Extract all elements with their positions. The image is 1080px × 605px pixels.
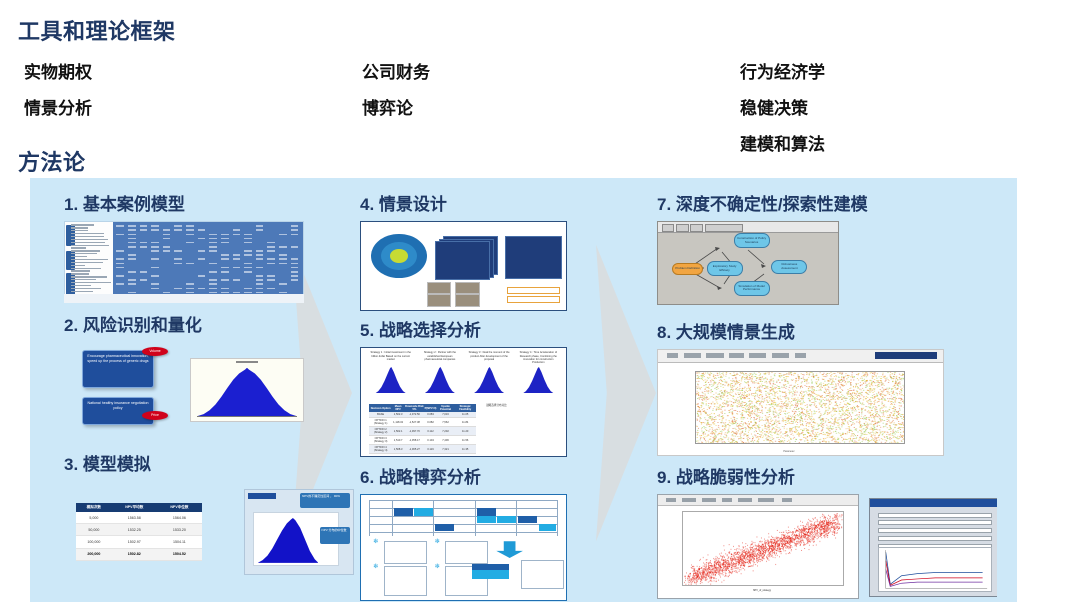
scenario-wheel-icon: [371, 234, 426, 278]
card-4-title: 4. 情景设计: [360, 190, 575, 215]
card-9-title: 9. 战略脆弱性分析: [657, 463, 1007, 488]
x-axis-label: NPV_of_strategy: [682, 589, 842, 592]
node-policy-scenarios: Construction of Policy Scenarios: [734, 233, 770, 248]
table-header-row: 模拟次数 NPV平均数 NPV中位数: [76, 503, 202, 512]
red-scatter-plot: [682, 511, 844, 585]
card-1-title: 1. 基本案例模型: [64, 190, 314, 215]
card-8-thumbnail: Parameter: [657, 349, 944, 456]
strategy-caption-1: Strategy 1 : Initial investment in the b…: [369, 351, 412, 361]
card-3-thumbnail: 模拟次数 NPV平均数 NPV中位数 5,0001563.581564.06 5…: [64, 481, 354, 577]
npv-distribution-chart: [190, 358, 304, 422]
tool-keyword-modeling-algorithms: 建模和算法: [740, 130, 825, 155]
card-8-title: 8. 大规模情景生成: [657, 318, 977, 343]
table-row: OPTION 3 (Strategy 3)1,510.7-1,058.170.1…: [369, 436, 476, 445]
payoff-matrix: [369, 500, 558, 536]
sim-note-median: NPV 分布的中位数: [320, 527, 350, 544]
card-7-title: 7. 深度不确定性/探索性建模: [657, 190, 977, 215]
oval-volume: Volume: [142, 347, 168, 356]
table-row: OPTION 2 (Strategy 2)1,502.1-1,097.700.1…: [369, 427, 476, 436]
strategy-comparison-table: Decision Option Mean NPV Downside Risk 5…: [369, 404, 476, 454]
table-row: 5,0001563.581564.06: [76, 512, 202, 524]
card-9[interactable]: 9. 战略脆弱性分析 NPV_of_strategy: [657, 463, 1007, 599]
menu-bar[interactable]: [658, 495, 858, 506]
col-npv-median: NPV中位数: [157, 503, 202, 512]
card-6-title: 6. 战略博弈分析: [360, 463, 575, 488]
driver-box-innovation: Encourage pharmaceutical innovation, spe…: [82, 350, 154, 388]
card-3[interactable]: 3. 模型模拟 模拟次数 NPV平均数 NPV中位数 5,0001563.581…: [64, 450, 354, 577]
card-4[interactable]: 4. 情景设计: [360, 190, 575, 311]
star-icon-3: ✻: [373, 564, 378, 570]
table-row: 50,0001532.251533.20: [76, 524, 202, 536]
card-3-title: 3. 模型模拟: [64, 450, 354, 475]
card-1-thumbnail: [64, 221, 304, 303]
card-9-thumbnail: NPV_of_strategy: [657, 494, 997, 599]
driver-box-insurance: National healthy insurance negotiation p…: [82, 397, 154, 425]
node-problem-definition: Problem Definition: [672, 263, 703, 275]
col-npv-mean: NPV平均数: [112, 503, 157, 512]
dialog-title-bar: [870, 499, 997, 507]
tool-keyword-behavioral-economics: 行为经济学: [740, 58, 825, 83]
card-7[interactable]: 7. 深度不确定性/探索性建模: [657, 190, 977, 305]
table-header-row: Decision Option Mean NPV Downside Risk 5…: [369, 404, 476, 412]
x-axis-label: Parameter: [783, 450, 794, 453]
node-robustness-assessment: Robustness Assessment: [771, 260, 807, 275]
methodology-section-title: 方法论: [18, 145, 86, 177]
card-5[interactable]: 5. 战略选择分析 Strategy 1 : Initial investmen…: [360, 316, 575, 457]
down-arrow-icon: [496, 541, 523, 558]
simulation-results-table: 模拟次数 NPV平均数 NPV中位数 5,0001563.581564.06 5…: [76, 503, 202, 561]
card-1[interactable]: 1. 基本案例模型: [64, 190, 314, 303]
settings-dialog[interactable]: [869, 498, 997, 597]
menu-bar[interactable]: [658, 350, 943, 363]
card-2-thumbnail: Encourage pharmaceutical innovation, spe…: [64, 342, 314, 437]
star-icon-4: ✻: [435, 564, 440, 570]
card-7-thumbnail: Problem Definition Exploratory Study Eff…: [657, 221, 839, 305]
table-row: 100,0001502.971504.11: [76, 536, 202, 548]
tools-section-title: 工具和理论框架: [18, 14, 176, 46]
tool-keyword-robust-decision: 稳健决策: [740, 94, 808, 119]
card-6[interactable]: 6. 战略博弈分析: [360, 463, 575, 601]
scenario-scatter-plot: [695, 371, 905, 444]
flow-arrow-2-icon: [596, 198, 656, 588]
dialog-line-chart: [878, 547, 993, 592]
card-5-title: 5. 战略选择分析: [360, 316, 575, 341]
card-2-title: 2. 风险识别和量化: [64, 311, 324, 336]
table-row: 200,0001502.821504.52: [76, 548, 202, 560]
node-model-simulation: Simulation of Model Performance: [734, 281, 770, 296]
col-sim-count: 模拟次数: [76, 503, 112, 512]
tool-keyword-real-options: 实物期权: [24, 58, 92, 83]
strategy-commentary: 战略选择分布对比: [486, 404, 560, 408]
star-icon-1: ✻: [373, 539, 378, 545]
table-row: OPTION 1 (Strategy 1)1,118.32-1,527.380.…: [369, 418, 476, 427]
sim-note-uncertainty: NPV的不确定性区间 ， 90%: [300, 493, 350, 508]
tool-keyword-game-theory: 博弈论: [362, 94, 413, 119]
oval-price: Price: [142, 411, 168, 420]
card-6-thumbnail: ✻ ✻ ✻ ✻: [360, 494, 567, 601]
methodology-panel: 1. 基本案例模型 2. 风险识别和量化 Encourage pharmaceu…: [30, 178, 1017, 602]
card-5-thumbnail: Strategy 1 : Initial investment in the b…: [360, 347, 567, 457]
card-8[interactable]: 8. 大规模情景生成 Parameter: [657, 318, 977, 456]
strategy-caption-2: Strategy 2 : Partner with the establishe…: [418, 351, 461, 361]
card-4-thumbnail: [360, 221, 567, 311]
tool-keyword-corporate-finance: 公司财务: [362, 58, 430, 83]
simulation-screenshot: NPV的不确定性区间 ， 90% NPV 分布的中位数: [244, 489, 354, 575]
tool-keyword-scenario-analysis: 情景分析: [24, 94, 92, 119]
star-icon-2: ✻: [435, 539, 440, 545]
node-exploratory-study: Exploratory Study Efficacy: [707, 261, 743, 276]
table-row: OPTION 4 (Strategy 4)1,508.3-1,065.270.1…: [369, 445, 476, 454]
strategy-caption-3: Strategy 3 : Deal the moment of the prod…: [468, 351, 511, 361]
strategy-caption-4: Strategy 4 : Time Acceleration of Resear…: [517, 351, 560, 364]
vulnerability-scatter-window: NPV_of_strategy: [657, 494, 859, 599]
card-2[interactable]: 2. 风险识别和量化 Encourage pharmaceutical inno…: [64, 311, 324, 437]
